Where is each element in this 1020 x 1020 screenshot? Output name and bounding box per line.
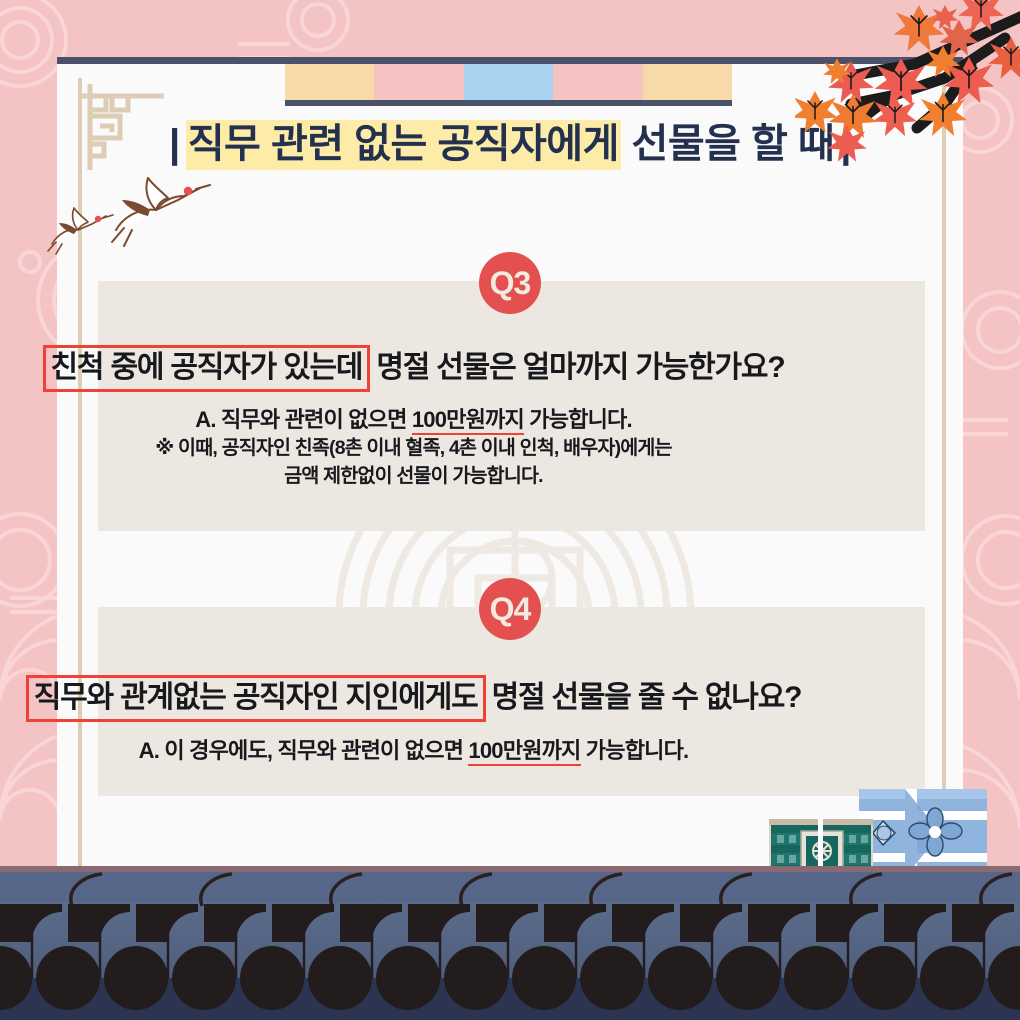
hanok-roof-icon [0,866,1020,1020]
question-badge-q3: Q3 [479,252,541,314]
color-bar-segments [285,64,732,100]
question-highlight-box-q3: 친척 중에 공직자가 있는데 [43,345,371,392]
question-text-q4: 직무와 관계없는 공직자인 지인에게도명절 선물을 줄 수 없나요? [0,672,827,716]
answer-line: A. 직무와 관련이 없으면 100만원까지 가능합니다. [0,404,827,435]
color-segment-1 [285,64,374,100]
color-segment-4 [553,64,642,100]
color-segment-2 [374,64,463,100]
maple-branch-icon [795,0,1020,182]
color-segment-5 [643,64,732,100]
question-highlight-box-q4: 직무와 관계없는 공직자인 지인에게도 [26,675,486,722]
answer-suffix: 가능합니다. [524,407,632,432]
answer-note-line: ※ 이때, 공직자인 친족(8촌 이내 혈족, 4촌 이내 인척, 배우자)에게… [0,435,827,463]
question-text-q3: 친척 중에 공직자가 있는데명절 선물은 얼마까지 가능한가요? [0,342,827,386]
answer-note-text: ※ 이때, 공직자인 친족(8촌 이내 혈족, 4촌 이내 인척, 배우자)에게… [155,437,671,459]
infographic-canvas: |직무 관련 없는 공직자에게 선물을 할 때| [0,0,1020,1020]
color-segment-3 [464,64,553,100]
answer-note-line: 금액 제한없이 선물이 가능합니다. [0,463,827,491]
answer-block-q3: A. 직무와 관련이 없으면 100만원까지 가능합니다. ※ 이때, 공직자인… [0,404,827,491]
answer-prefix: A. 이 경우에도, 직무와 관련이 없으면 [139,738,469,763]
answer-suffix: 가능합니다. [581,738,689,763]
question-rest-q3: 명절 선물은 얼마까지 가능한가요? [370,351,784,384]
answer-underlined: 100만원까지 [468,738,580,766]
answer-note-text: 금액 제한없이 선물이 가능합니다. [284,465,542,487]
title-highlight: 직무 관련 없는 공직자에게 [186,120,621,170]
answer-block-q4: A. 이 경우에도, 직무와 관련이 없으면 100만원까지 가능합니다. [0,735,827,766]
question-badge-q4: Q4 [479,578,541,640]
question-rest-q4: 명절 선물을 줄 수 없나요? [486,681,802,714]
decorative-color-bar [285,64,732,100]
color-bar-underline [285,100,732,106]
answer-prefix: A. 직무와 관련이 없으면 [195,407,412,432]
flying-cranes-icon [28,158,228,263]
answer-underlined: 100만원까지 [412,407,524,435]
answer-line: A. 이 경우에도, 직무와 관련이 없으면 100만원까지 가능합니다. [0,735,827,766]
